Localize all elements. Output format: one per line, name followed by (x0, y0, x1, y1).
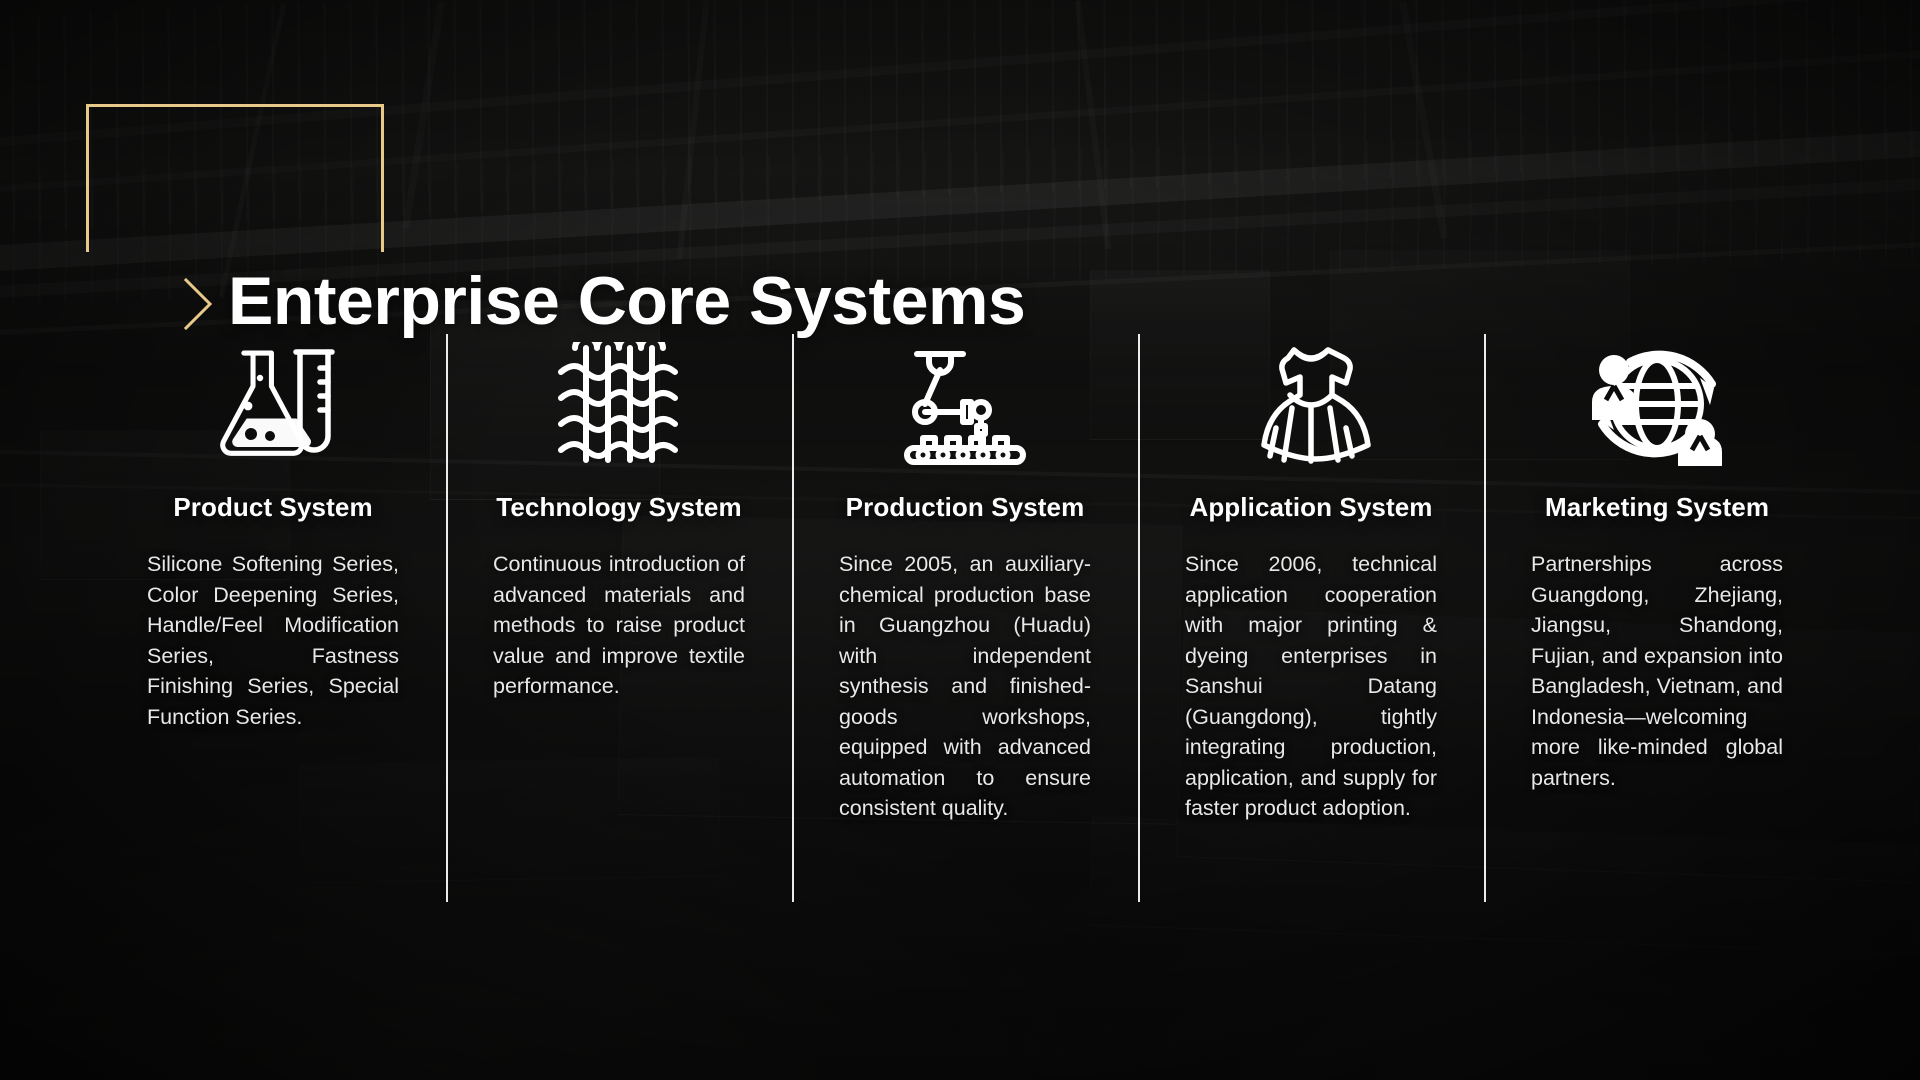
woven-textile-icon (460, 334, 778, 474)
column-title: Technology System (460, 492, 778, 523)
column-body: Continuous introduction of advanced mate… (493, 549, 745, 702)
column-technology-system: Technology System Continuous introductio… (446, 334, 792, 702)
chevron-right-icon (182, 276, 216, 332)
column-product-system: Product System Silicone Softening Series… (100, 334, 446, 732)
column-body: Since 2005, an auxiliary-chemical produc… (839, 549, 1091, 824)
column-title: Application System (1152, 492, 1470, 523)
robot-arm-conveyor-icon (806, 334, 1124, 474)
global-network-people-icon (1498, 334, 1816, 474)
column-production-system: Production System Since 2005, an auxilia… (792, 334, 1138, 824)
column-title: Marketing System (1498, 492, 1816, 523)
slide-root: Enterprise Core Systems (0, 0, 1920, 1080)
column-title: Production System (806, 492, 1124, 523)
flask-and-test-tube-icon (114, 334, 432, 474)
systems-columns: Product System Silicone Softening Series… (100, 334, 1830, 904)
column-body: Partnerships across Guangdong, Zhejiang,… (1531, 549, 1783, 793)
dress-garment-icon (1152, 334, 1470, 474)
corner-frame (86, 104, 384, 252)
column-body: Since 2006, technical application cooper… (1185, 549, 1437, 824)
column-body: Silicone Softening Series, Color Deepeni… (147, 549, 399, 732)
page-title: Enterprise Core Systems (228, 262, 1025, 340)
column-title: Product System (114, 492, 432, 523)
column-application-system: Application System Since 2006, technical… (1138, 334, 1484, 824)
column-marketing-system: Marketing System Partnerships across Gua… (1484, 334, 1830, 793)
